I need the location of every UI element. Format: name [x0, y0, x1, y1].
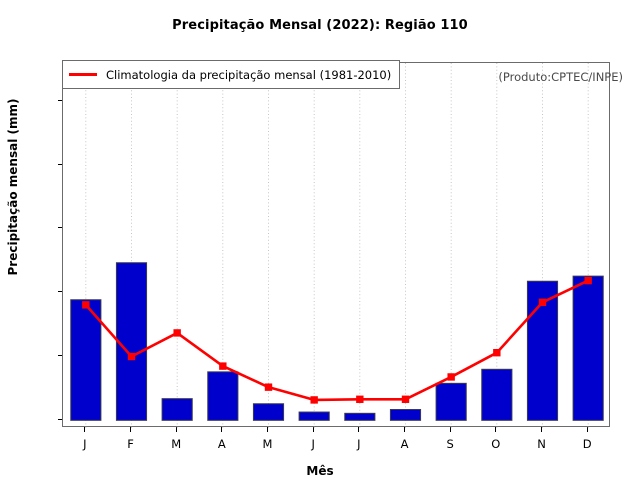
chart-title: Precipitação Mensal (2022): Região 110: [0, 18, 640, 33]
bar-o-9: [482, 369, 512, 420]
climatology-marker-d-11: [584, 277, 591, 284]
plot-canvas: [63, 63, 611, 428]
bar-a-3: [208, 372, 238, 420]
x-tick-label-3: A: [202, 437, 242, 451]
x-tick-label-9: O: [476, 437, 516, 451]
x-tick-label-1: F: [111, 437, 151, 451]
x-tick-label-6: J: [339, 437, 379, 451]
x-tick-label-10: N: [522, 437, 562, 451]
bar-m-4: [253, 404, 283, 421]
climatology-marker-n-10: [539, 299, 546, 306]
climatology-marker-a-7: [402, 396, 409, 403]
climatology-marker-j-0: [82, 301, 89, 308]
climatology-marker-a-3: [219, 362, 226, 369]
chart-legend[interactable]: Climatologia da precipitação mensal (198…: [62, 60, 400, 89]
x-axis-label: Mês: [0, 464, 640, 478]
bar-series: [71, 263, 603, 421]
x-tick-label-5: J: [293, 437, 333, 451]
bar-j-5: [299, 412, 329, 420]
x-tick-label-4: M: [248, 437, 288, 451]
x-tick-label-7: A: [385, 437, 425, 451]
x-tick-label-11: D: [567, 437, 607, 451]
climatology-polyline: [86, 281, 588, 400]
x-tick-label-0: J: [65, 437, 105, 451]
climatology-marker-o-9: [493, 349, 500, 356]
legend-line-swatch-climatology: [69, 73, 97, 76]
climatology-marker-m-4: [265, 383, 272, 390]
bar-j-6: [345, 413, 375, 420]
chart-figure: Precipitação Mensal (2022): Região 110 P…: [0, 0, 640, 500]
legend-label-climatology: Climatologia da precipitação mensal (198…: [106, 68, 391, 82]
climatology-marker-j-5: [310, 396, 317, 403]
y-axis-label: Precipitação mensal (mm): [6, 22, 20, 352]
x-tick-label-8: S: [430, 437, 470, 451]
climatology-marker-s-8: [447, 373, 454, 380]
plot-area: [62, 62, 610, 427]
bar-a-7: [390, 409, 420, 420]
bar-m-2: [162, 399, 192, 421]
bar-f-1: [116, 263, 146, 421]
gridlines: [86, 63, 588, 428]
x-tick-label-2: M: [156, 437, 196, 451]
climatology-marker-j-6: [356, 396, 363, 403]
bar-s-8: [436, 383, 466, 420]
climatology-marker-f-1: [128, 353, 135, 360]
bar-d-11: [573, 276, 603, 420]
product-source-note: (Produto:CPTEC/INPE): [498, 70, 623, 84]
climatology-marker-m-2: [173, 329, 180, 336]
climatology-line-series: [82, 277, 592, 404]
